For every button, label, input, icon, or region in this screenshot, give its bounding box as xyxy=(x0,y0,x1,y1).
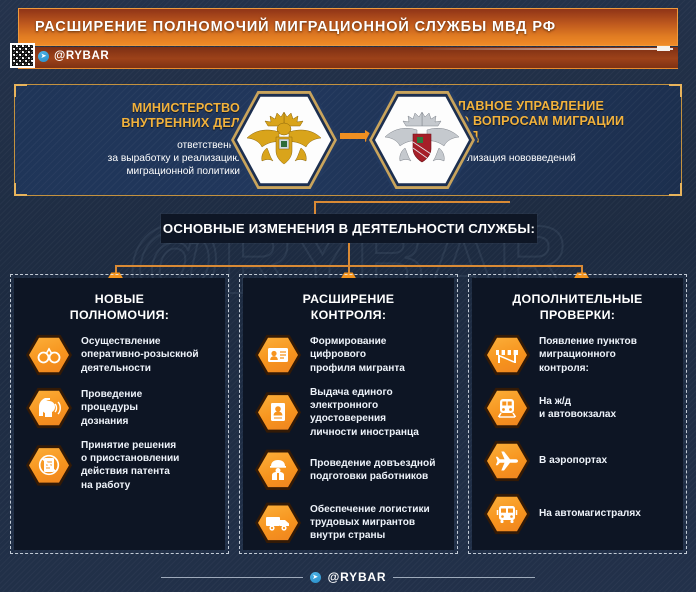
list-item[interactable]: Проведение процедуры дознания xyxy=(14,386,225,430)
column-heading-line1: ДОПОЛНИТЕЛЬНЫЕ xyxy=(480,291,675,307)
list-item-label: Проведение процедуры дознания xyxy=(81,388,142,428)
list-item[interactable]: В аэропортах xyxy=(472,439,683,483)
column-items: Формирование цифрового профиля мигранта … xyxy=(243,333,454,545)
header-bar: РАСШИРЕНИЕ ПОЛНОМОЧИЙ МИГРАЦИОННОЙ СЛУЖБ… xyxy=(18,8,678,46)
checkpoint-barrier-icon xyxy=(484,334,530,376)
interrogation-head-icon xyxy=(26,387,72,429)
qr-code-pattern xyxy=(12,45,33,66)
id-document-icon xyxy=(255,391,301,433)
column-expanded-control: РАСШИРЕНИЕ КОНТРОЛЯ: Формирование цифров… xyxy=(243,278,454,550)
list-item[interactable]: Обеспечение логистики трудовых мигрантов… xyxy=(243,501,454,545)
list-item-label: Обеспечение логистики трудовых мигрантов… xyxy=(310,503,430,543)
list-item[interactable]: На ж/д и автовокзалах xyxy=(472,386,683,430)
mvd-emblem-hexagon xyxy=(228,86,340,194)
list-item-label: Проведение довъездной подготовки работни… xyxy=(310,457,435,483)
org-left-text: МИНИСТЕРСТВО ВНУТРЕННИХ ДЕЛ ответственно… xyxy=(45,101,240,178)
list-item[interactable]: Принятие решения о приостановлении дейст… xyxy=(14,439,225,492)
column-heading-line1: НОВЫЕ xyxy=(22,291,217,307)
panel-corner-tr xyxy=(669,84,682,97)
truck-logistics-icon xyxy=(255,502,301,544)
digital-profile-card-icon xyxy=(255,334,301,376)
column-heading: ДОПОЛНИТЕЛЬНЫЕ ПРОВЕРКИ: xyxy=(472,278,683,323)
org-right-title-line2: ПО ВОПРОСАМ МИГРАЦИИ xyxy=(450,114,655,129)
subbar-accent-line xyxy=(423,48,673,50)
column-new-powers: НОВЫЕ ПОЛНОМОЧИЯ: Осуществление оператив… xyxy=(14,278,225,550)
arrow-right-icon xyxy=(340,133,366,139)
panel-corner-bl xyxy=(14,183,27,196)
column-heading-line2: ПОЛНОМОЧИЯ: xyxy=(22,307,217,323)
column-items: Осуществление оперативно-розыскной деяте… xyxy=(14,333,225,492)
column-additional-checks: ДОПОЛНИТЕЛЬНЫЕ ПРОВЕРКИ: Появление пункт… xyxy=(472,278,683,550)
main-changes-banner-label: ОСНОВНЫЕ ИЗМЕНЕНИЯ В ДЕЯТЕЛЬНОСТИ СЛУЖБЫ… xyxy=(163,221,535,236)
footer-line-right xyxy=(393,577,535,578)
list-item[interactable]: Осуществление оперативно-розыскной деяте… xyxy=(14,333,225,377)
panel-corner-tl xyxy=(14,84,27,97)
connector-top-horizontal xyxy=(314,201,510,203)
column-heading-line2: ПРОВЕРКИ: xyxy=(480,307,675,323)
list-item-label: Выдача единого электронного удостоверени… xyxy=(310,386,419,439)
list-item-label: На ж/д и автовокзалах xyxy=(539,395,616,421)
org-right-title-line3: МВД xyxy=(450,129,655,144)
list-item[interactable]: Проведение довъездной подготовки работни… xyxy=(243,448,454,492)
subbar-tick xyxy=(657,46,670,51)
list-item-label: На автомагистралях xyxy=(539,507,641,520)
org-right-text: ГЛАВНОЕ УПРАВЛЕНИЕ ПО ВОПРОСАМ МИГРАЦИИ … xyxy=(450,99,655,165)
list-item-label: Осуществление оперативно-розыскной деяте… xyxy=(81,335,199,375)
column-heading-line1: РАСШИРЕНИЕ xyxy=(251,291,446,307)
train-icon xyxy=(484,387,530,429)
list-item[interactable]: На автомагистралях xyxy=(472,492,683,536)
column-heading-line2: КОНТРОЛЯ: xyxy=(251,307,446,323)
connector-center-stem xyxy=(348,243,350,266)
column-heading: НОВЫЕ ПОЛНОМОЧИЯ: xyxy=(14,278,225,323)
handcuffs-icon xyxy=(26,334,72,376)
list-item-label: Появление пунктов миграционного контроля… xyxy=(539,335,637,375)
header-subbar xyxy=(18,47,678,69)
telegram-icon: ➤ xyxy=(310,572,321,583)
org-right-title-line1: ГЛАВНОЕ УПРАВЛЕНИЕ xyxy=(450,99,655,114)
channel-tag: ➤ @RYBAR xyxy=(38,50,109,62)
telegram-icon: ➤ xyxy=(38,51,49,62)
org-left-subtitle: ответственно за выработку и реализацию м… xyxy=(45,139,240,178)
bus-icon xyxy=(484,493,530,535)
page-title: РАСШИРЕНИЕ ПОЛНОМОЧИЙ МИГРАЦИОННОЙ СЛУЖБ… xyxy=(19,19,556,35)
list-item-label: В аэропортах xyxy=(539,454,607,467)
list-item-label: Формирование цифрового профиля мигранта xyxy=(310,335,405,375)
footer-channel-label: @RYBAR xyxy=(328,570,387,584)
list-item-label: Принятие решения о приостановлении дейст… xyxy=(81,439,179,492)
list-item[interactable]: Выдача единого электронного удостоверени… xyxy=(243,386,454,439)
org-left-title-line1: МИНИСТЕРСТВО xyxy=(45,101,240,116)
airplane-icon xyxy=(484,440,530,482)
list-item[interactable]: Появление пунктов миграционного контроля… xyxy=(472,333,683,377)
main-changes-banner: ОСНОВНЫЕ ИЗМЕНЕНИЯ В ДЕЯТЕЛЬНОСТИ СЛУЖБЫ… xyxy=(161,214,537,243)
org-left-title-line2: ВНУТРЕННИХ ДЕЛ xyxy=(45,116,240,131)
org-right-subtitle: реализация нововведений xyxy=(450,152,655,165)
worker-training-icon xyxy=(255,449,301,491)
footer: ➤ @RYBAR xyxy=(0,570,696,584)
panel-corner-br xyxy=(669,183,682,196)
qr-code-icon xyxy=(10,43,35,68)
column-items: Появление пунктов миграционного контроля… xyxy=(472,333,683,536)
channel-tag-label: @RYBAR xyxy=(54,50,109,62)
no-work-permit-icon xyxy=(26,444,72,486)
organizations-panel: МИНИСТЕРСТВО ВНУТРЕННИХ ДЕЛ ответственно… xyxy=(14,84,682,196)
footer-line-left xyxy=(161,577,303,578)
migration-emblem-hexagon xyxy=(366,86,478,194)
list-item[interactable]: Формирование цифрового профиля мигранта xyxy=(243,333,454,377)
column-heading: РАСШИРЕНИЕ КОНТРОЛЯ: xyxy=(243,278,454,323)
